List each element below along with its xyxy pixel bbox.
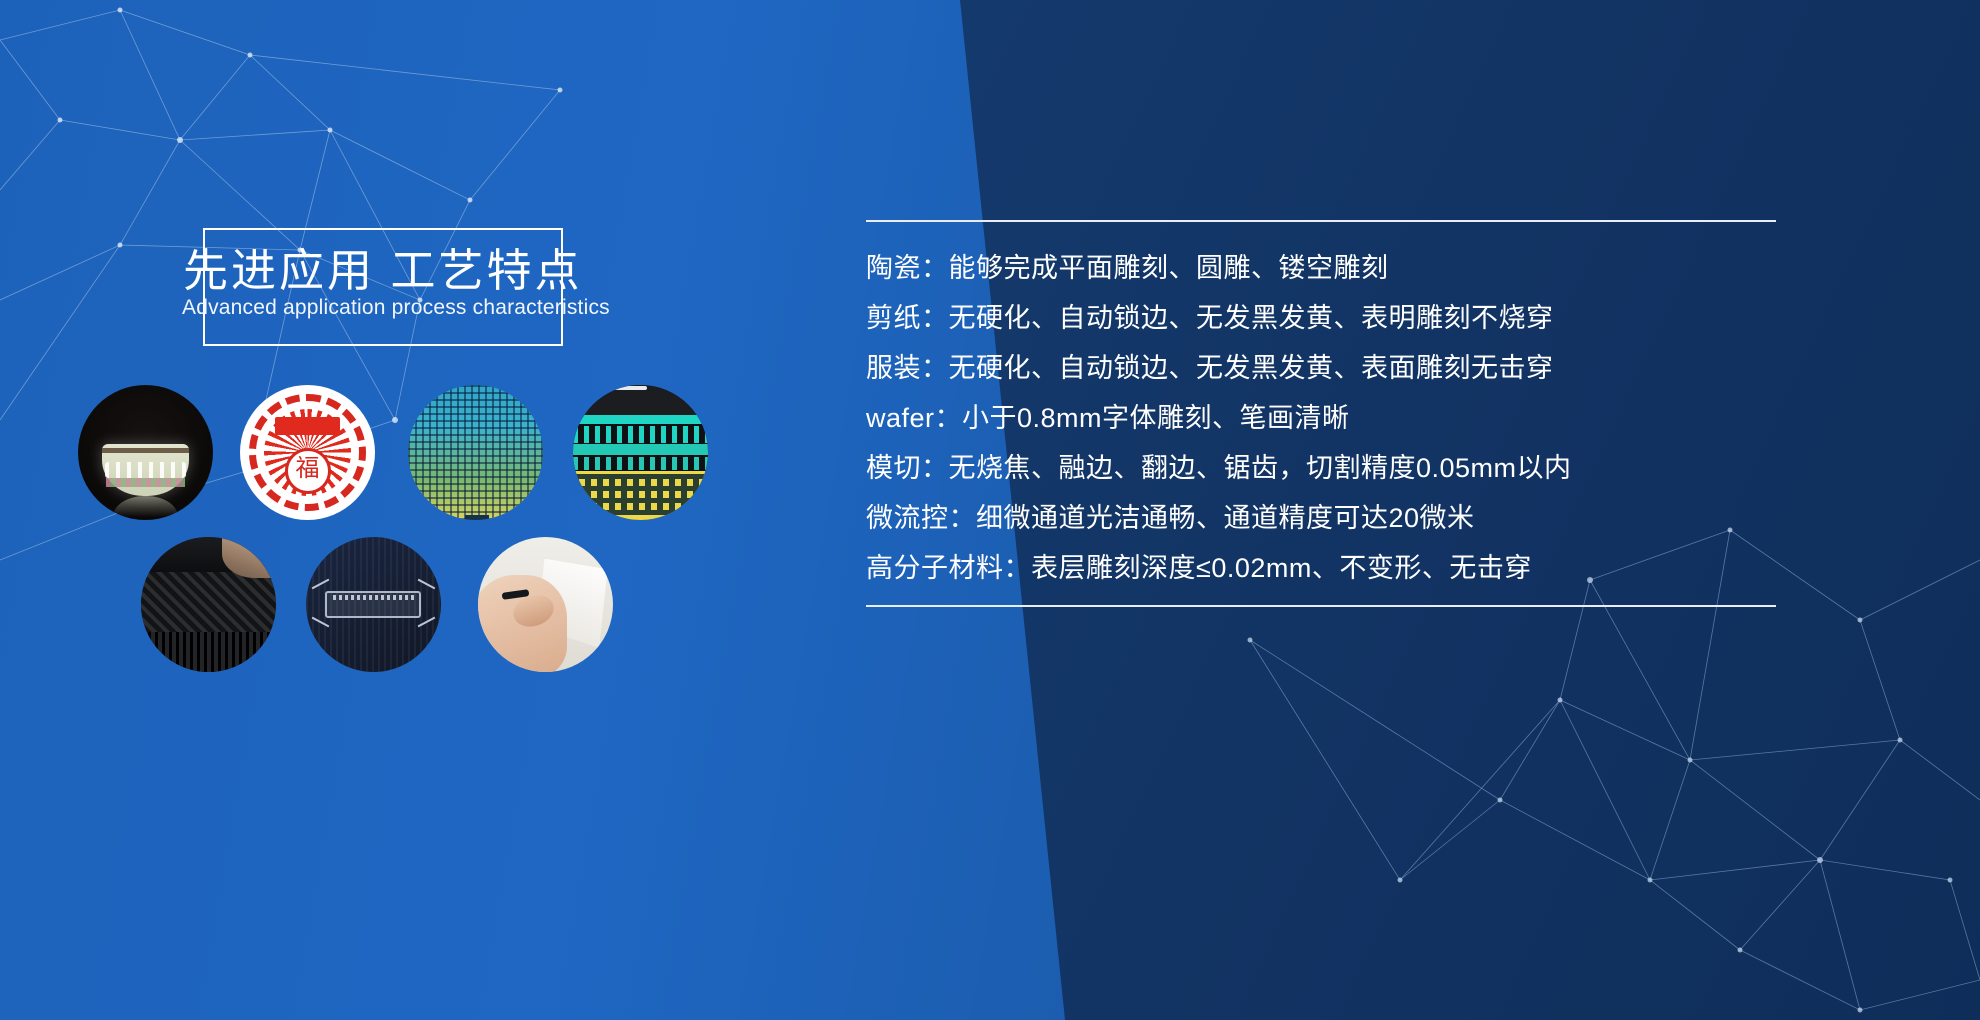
feature-line-wafer: wafer：小于0.8mm字体雕刻、笔画清晰 — [866, 393, 1926, 443]
feature-line-microfluidic: 微流控：细微通道光洁通畅、通道精度可达20微米 — [866, 493, 1926, 543]
top-divider — [866, 220, 1776, 222]
red-papercut-photo: 福 — [240, 385, 375, 520]
feature-line-garment: 服装：无硬化、自动锁边、无发黑发黄、表面雕刻无击穿 — [866, 343, 1926, 393]
page-title: 先进应用 工艺特点 — [183, 248, 603, 293]
black-fabric-photo — [141, 537, 276, 672]
page-subtitle: Advanced application process characteris… — [182, 296, 602, 320]
feature-list: 陶瓷：能够完成平面雕刻、圆雕、镂空雕刻 剪纸：无硬化、自动锁边、无发黑发黄、表明… — [866, 243, 1926, 593]
blue-wafer-photo — [408, 385, 543, 520]
striped-wafer-photo — [573, 385, 708, 520]
feature-line-ceramic: 陶瓷：能够完成平面雕刻、圆雕、镂空雕刻 — [866, 243, 1926, 293]
slide-root: 先进应用 工艺特点 Advanced application process c… — [0, 0, 1980, 1020]
photo-gallery: 福 — [78, 385, 778, 685]
ceramic-bowl-photo — [78, 385, 213, 520]
feature-line-papercut: 剪纸：无硬化、自动锁边、无发黑发黄、表明雕刻不烧穿 — [866, 293, 1926, 343]
feature-line-polymer: 高分子材料：表层雕刻深度≤0.02mm、不变形、无击穿 — [866, 543, 1926, 593]
hand-holding-film-photo — [478, 537, 613, 672]
microfluidic-chip-photo — [306, 537, 441, 672]
feature-line-die-cutting: 模切：无烧焦、融边、翻边、锯齿，切割精度0.05mm以内 — [866, 443, 1926, 493]
bottom-divider — [866, 605, 1776, 607]
